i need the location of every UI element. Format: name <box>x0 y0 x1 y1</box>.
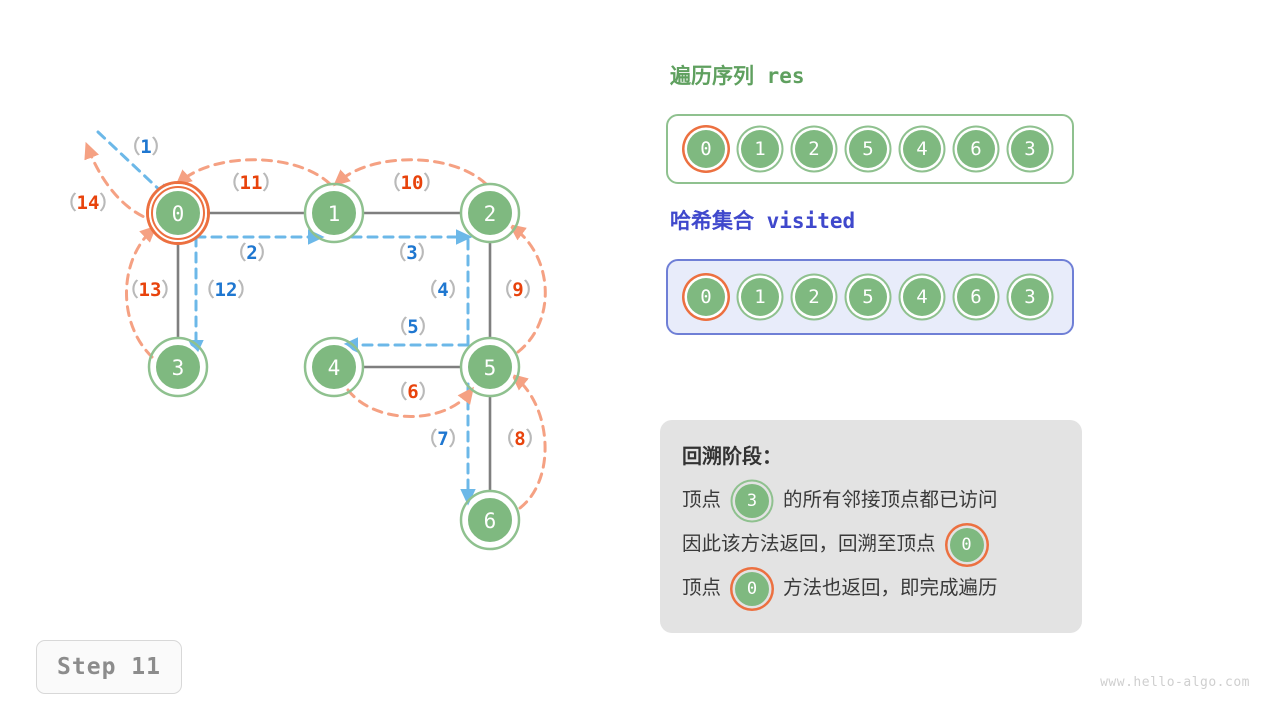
visited-chip-item-6[interactable]: 3 <box>1008 275 1052 319</box>
vertex-badge-0-line3-label: 0 <box>747 581 757 598</box>
graph-step-labels: （1）（2）（3）（4）（5）（6）（7）（8）（9）（10）（11）（12）（… <box>58 135 545 450</box>
step-label-9: （9） <box>493 278 542 301</box>
res-chip-item-2-label: 2 <box>808 140 819 159</box>
res-chip-item-5[interactable]: 6 <box>954 127 998 171</box>
vertex-badge-0-line2: 0 <box>947 525 987 565</box>
graph-node-3[interactable]: 3 <box>149 338 207 396</box>
step-label-10: （10） <box>382 171 443 194</box>
graph-node-1[interactable]: 1 <box>305 184 363 242</box>
graph-node-4[interactable]: 4 <box>305 338 363 396</box>
step-label-14: （14） <box>58 191 119 214</box>
visited-chip-item-2[interactable]: 2 <box>792 275 836 319</box>
visited-chip-box: 0125463 <box>666 259 1074 335</box>
visited-chip-item-3-label: 5 <box>862 288 873 307</box>
explanation-line-1: 顶点 3 的所有邻接顶点都已访问 <box>682 479 1060 523</box>
res-chip-box: 0125463 <box>666 114 1074 184</box>
graph-node-6[interactable]: 6 <box>461 491 519 549</box>
graph-node-2[interactable]: 2 <box>461 184 519 242</box>
visited-chip-item-6-label: 3 <box>1024 288 1035 307</box>
res-chip-item-5-label: 6 <box>970 140 981 159</box>
visited-chip-item-0[interactable]: 0 <box>684 275 728 319</box>
graph-node-0[interactable]: 0 <box>148 183 209 244</box>
step-label-2: （2） <box>227 241 276 264</box>
vertex-badge-3: 3 <box>732 481 772 521</box>
explanation-line-3-text-b: 方法也返回，即完成遍历 <box>783 579 998 599</box>
explanation-line-3: 顶点 0 方法也返回，即完成遍历 <box>682 567 1060 611</box>
res-panel-title: 遍历序列 res <box>670 60 805 90</box>
res-chip-item-4-label: 4 <box>916 140 927 159</box>
graph-diagram: 0123456 （1）（2）（3）（4）（5）（6）（7）（8）（9）（10）（… <box>0 0 640 640</box>
step-label-1: （1） <box>121 135 170 158</box>
res-chip-item-2[interactable]: 2 <box>792 127 836 171</box>
visited-chip-item-1[interactable]: 1 <box>738 275 782 319</box>
graph-node-5-label: 5 <box>484 356 497 380</box>
visited-chip-item-1-label: 1 <box>754 288 765 307</box>
visited-chip-item-5-label: 6 <box>970 288 981 307</box>
visited-chip-item-0-label: 0 <box>700 288 711 307</box>
graph-node-6-label: 6 <box>484 509 497 533</box>
visited-chip-item-5[interactable]: 6 <box>954 275 998 319</box>
explanation-line-1-text-a: 顶点 <box>682 491 721 511</box>
res-chip-item-1[interactable]: 1 <box>738 127 782 171</box>
graph-node-5[interactable]: 5 <box>461 338 519 396</box>
graph-node-3-label: 3 <box>172 356 185 380</box>
step-label-6: （6） <box>388 380 437 403</box>
res-chip-item-4[interactable]: 4 <box>900 127 944 171</box>
watermark: www.hello-algo.com <box>1100 675 1250 690</box>
visited-panel-title: 哈希集合 visited <box>670 205 855 235</box>
step-label-3: （3） <box>387 241 436 264</box>
step-badge: Step 11 <box>36 640 182 694</box>
graph-node-4-label: 4 <box>328 356 341 380</box>
vertex-badge-0-line3: 0 <box>732 569 772 609</box>
graph-node-2-label: 2 <box>484 202 497 226</box>
step-label-4: （4） <box>418 278 467 301</box>
visited-panel: 哈希集合 visited <box>670 205 855 235</box>
visited-chip-item-4-label: 4 <box>916 288 927 307</box>
explanation-line-2-text-a: 因此该方法返回，回溯至顶点 <box>682 535 936 555</box>
visited-chip-item-4[interactable]: 4 <box>900 275 944 319</box>
visited-chip-item-3[interactable]: 5 <box>846 275 890 319</box>
res-chip-item-6-label: 3 <box>1024 140 1035 159</box>
step-label-13: （13） <box>120 278 181 301</box>
graph-node-0-label: 0 <box>172 202 185 226</box>
res-panel: 遍历序列 res <box>670 60 805 90</box>
vertex-badge-0-line2-label: 0 <box>961 537 971 554</box>
res-chip-item-6[interactable]: 3 <box>1008 127 1052 171</box>
visited-chip-item-2-label: 2 <box>808 288 819 307</box>
res-chip-item-1-label: 1 <box>754 140 765 159</box>
vertex-badge-3-label: 3 <box>747 493 757 510</box>
res-chip-item-0[interactable]: 0 <box>684 127 728 171</box>
step-label-7: （7） <box>418 427 467 450</box>
step-label-8: （8） <box>495 427 544 450</box>
screenshot-root: 0123456 （1）（2）（3）（4）（5）（6）（7）（8）（9）（10）（… <box>0 0 1280 720</box>
explanation-header: 回溯阶段： <box>682 440 1060 469</box>
explanation-line-1-text-b: 的所有邻接顶点都已访问 <box>783 491 998 511</box>
step-label-5: （5） <box>388 315 437 338</box>
explanation-line-3-text-a: 顶点 <box>682 579 721 599</box>
graph-node-1-label: 1 <box>328 202 341 226</box>
step-label-11: （11） <box>221 171 282 194</box>
step-label-12: （12） <box>196 278 257 301</box>
explanation-box: 回溯阶段： 顶点 3 的所有邻接顶点都已访问 因此该方法返回，回溯至顶点 0 顶… <box>660 420 1082 633</box>
res-chip-item-3[interactable]: 5 <box>846 127 890 171</box>
explanation-line-2: 因此该方法返回，回溯至顶点 0 <box>682 523 1060 567</box>
res-chip-item-0-label: 0 <box>700 140 711 159</box>
res-chip-item-3-label: 5 <box>862 140 873 159</box>
